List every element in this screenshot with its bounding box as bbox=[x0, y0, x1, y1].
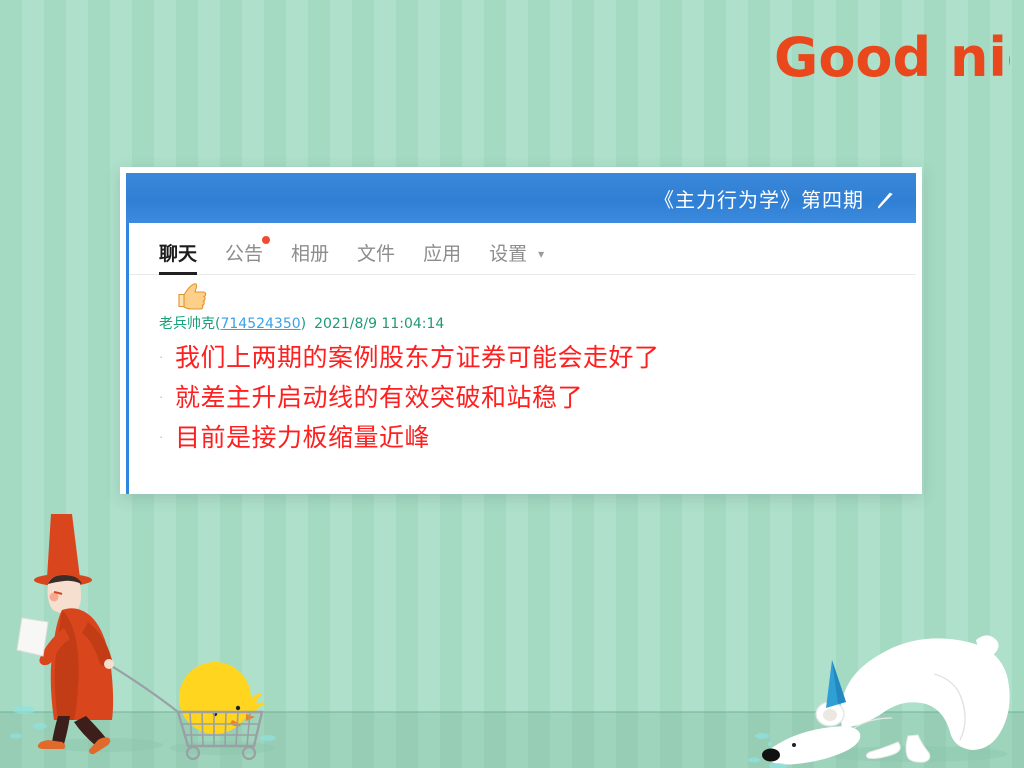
tab-files-label: 文件 bbox=[357, 243, 395, 265]
polar-bear-illustration bbox=[748, 618, 1024, 768]
tab-settings[interactable]: 设置 ▾ bbox=[489, 239, 544, 274]
message-text: 就差主升启动线的有效突破和站稳了 bbox=[175, 383, 583, 413]
page-title: 《主力行为学》第四期 bbox=[654, 184, 864, 213]
tab-chat[interactable]: 聊天 bbox=[159, 239, 197, 274]
sender-uin[interactable]: 714524350 bbox=[220, 316, 300, 332]
notification-badge-dot bbox=[262, 236, 270, 244]
message-sender-line: 老兵帅克(714524350)2021/8/9 11:04:14 bbox=[159, 313, 916, 333]
tab-album[interactable]: 相册 bbox=[291, 239, 329, 274]
bullet-icon: · bbox=[159, 389, 175, 404]
window-body: 聊天 公告 相册 文件 应用 设置 ▾ bbox=[126, 223, 916, 494]
chevron-down-icon: ▾ bbox=[538, 247, 544, 261]
message-line: · 就差主升启动线的有效突破和站稳了 bbox=[159, 383, 916, 413]
tab-apps-label: 应用 bbox=[423, 243, 461, 265]
tab-files[interactable]: 文件 bbox=[357, 239, 395, 274]
message-timestamp: 2021/8/9 11:04:14 bbox=[314, 316, 444, 332]
message-text: 目前是接力板缩量近峰 bbox=[175, 423, 430, 453]
good-night-greeting: Good night bbox=[770, 18, 1010, 98]
thumbs-up-emoji bbox=[177, 281, 916, 311]
bullet-icon: · bbox=[159, 349, 175, 364]
pencil-edit-icon[interactable] bbox=[876, 192, 894, 210]
qq-group-window: 《主力行为学》第四期 聊天 公告 相册 文件 应用 bbox=[120, 167, 922, 494]
tab-chat-label: 聊天 bbox=[159, 243, 197, 265]
bullet-icon: · bbox=[159, 429, 175, 444]
good-night-text: Good night bbox=[774, 26, 1010, 89]
window-titlebar: 《主力行为学》第四期 bbox=[126, 173, 916, 223]
tab-apps[interactable]: 应用 bbox=[423, 239, 461, 274]
message-line: · 我们上两期的案例股东方证券可能会走好了 bbox=[159, 343, 916, 373]
tab-announcement[interactable]: 公告 bbox=[225, 239, 263, 274]
tab-announcement-label: 公告 bbox=[225, 243, 263, 265]
tab-bar: 聊天 公告 相册 文件 应用 设置 ▾ bbox=[129, 223, 916, 275]
message-list: 老兵帅克(714524350)2021/8/9 11:04:14 · 我们上两期… bbox=[129, 275, 916, 453]
sender-name: 老兵帅克 bbox=[159, 316, 215, 332]
man-pulling-cart-illustration bbox=[10, 500, 280, 768]
tab-settings-label: 设置 bbox=[489, 243, 527, 265]
message-text: 我们上两期的案例股东方证券可能会走好了 bbox=[175, 343, 660, 373]
tab-album-label: 相册 bbox=[291, 243, 329, 265]
message-line: · 目前是接力板缩量近峰 bbox=[159, 423, 916, 453]
paren-close: ) bbox=[301, 316, 306, 332]
